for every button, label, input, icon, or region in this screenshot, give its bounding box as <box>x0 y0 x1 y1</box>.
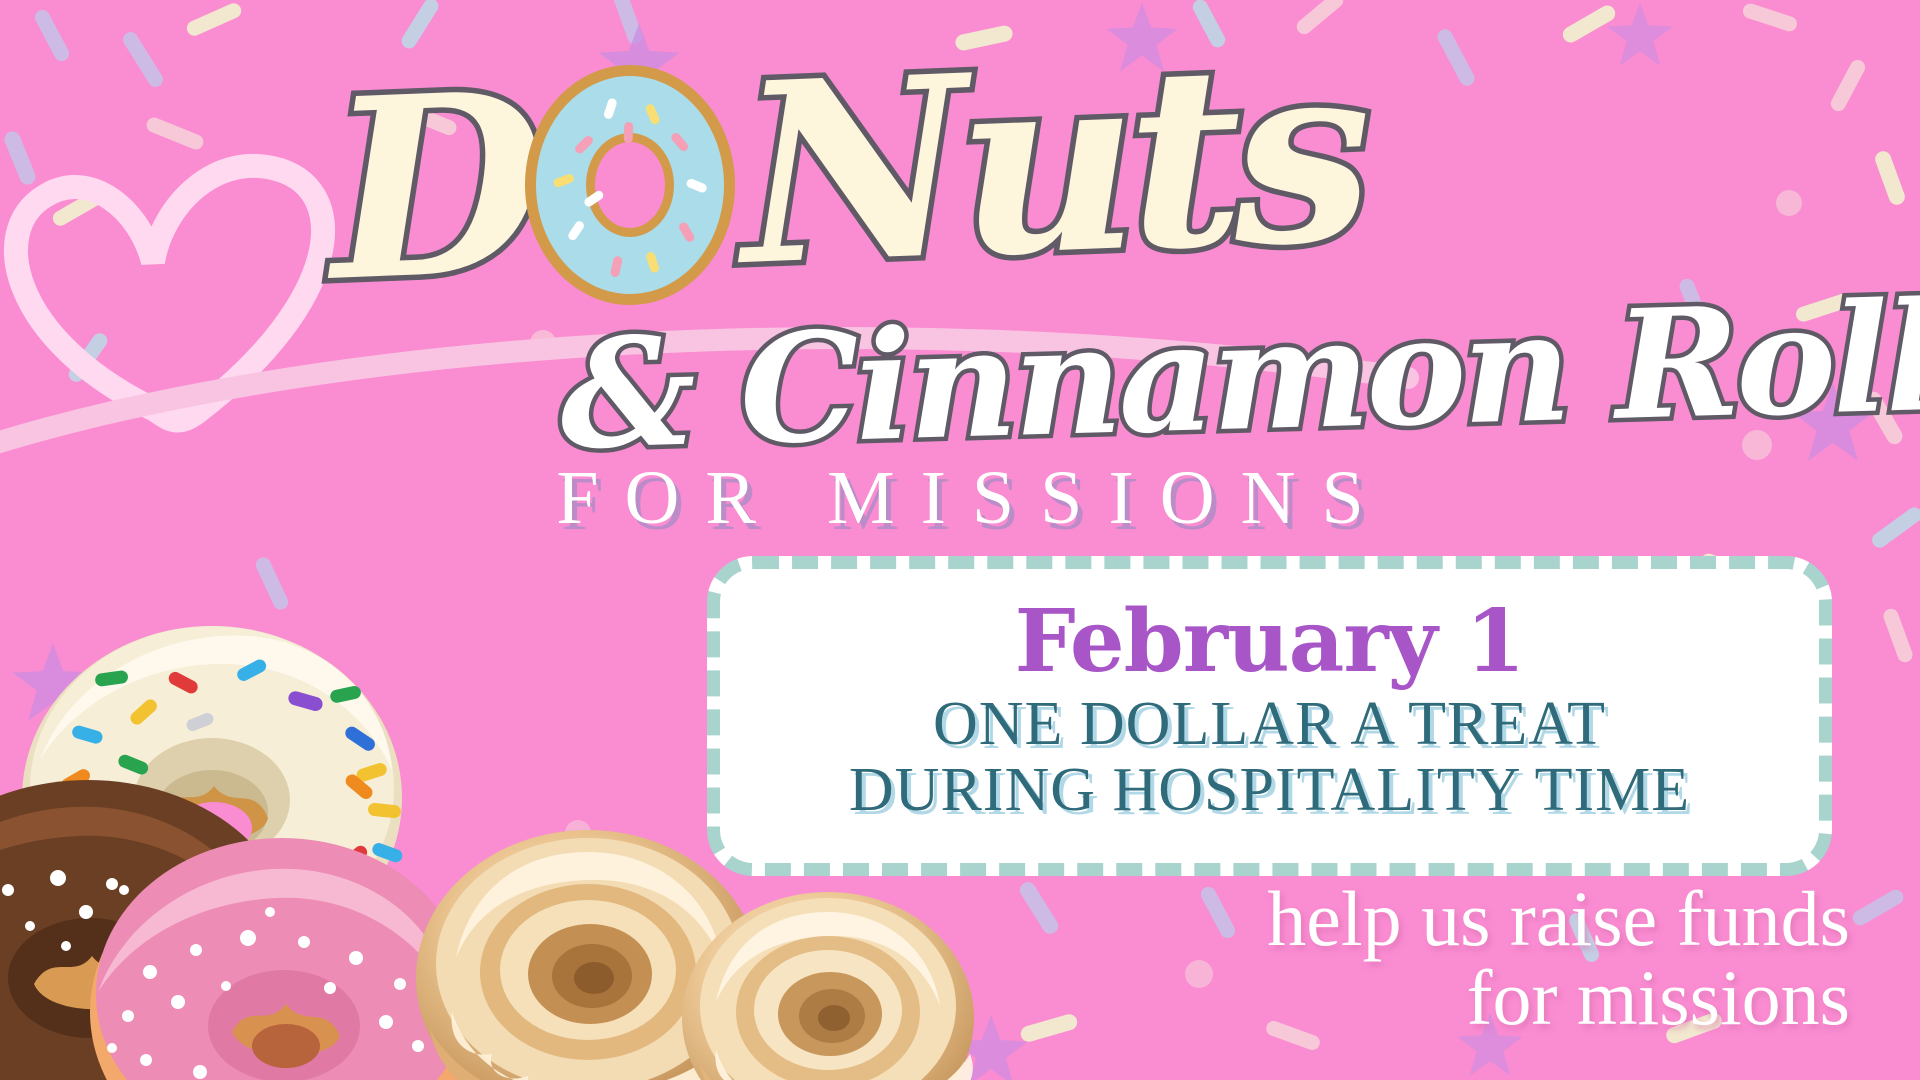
confetti-stick <box>1198 884 1238 940</box>
event-date: February 1 <box>1015 600 1525 684</box>
title-for-missions: FOR MISSIONS <box>0 455 1920 542</box>
blue-frosted-donut-icon <box>520 60 740 310</box>
event-detail-line-2: DURING HOSPITALITY TIME <box>849 758 1690 824</box>
title-cinnamon-rolls: & Cinnamon Rolls <box>558 280 1920 471</box>
title-donuts: DONuts <box>326 28 1367 315</box>
tagline-line-2: for missions <box>1267 958 1850 1038</box>
event-detail-line-1: ONE DOLLAR A TREAT <box>933 692 1606 758</box>
confetti-dot <box>1185 960 1213 988</box>
title-donuts-nuts: Nuts <box>736 6 1368 321</box>
title-donuts-d: D <box>325 38 541 337</box>
title-block: DONuts & Cinnamon Rolls <box>0 0 1920 560</box>
confetti-stick <box>1881 607 1914 665</box>
confetti-stick <box>1017 879 1061 937</box>
confetti-stick <box>1019 1012 1079 1043</box>
info-card: February 1 ONE DOLLAR A TREAT DURING HOS… <box>707 556 1832 876</box>
tagline: help us raise funds for missions <box>1267 879 1850 1038</box>
tagline-line-1: help us raise funds <box>1267 879 1850 959</box>
info-card-inner: February 1 ONE DOLLAR A TREAT DURING HOS… <box>707 556 1832 876</box>
confetti-stick <box>1850 887 1906 928</box>
poster-canvas: DONuts & Cinnamon Rolls <box>0 0 1920 1080</box>
